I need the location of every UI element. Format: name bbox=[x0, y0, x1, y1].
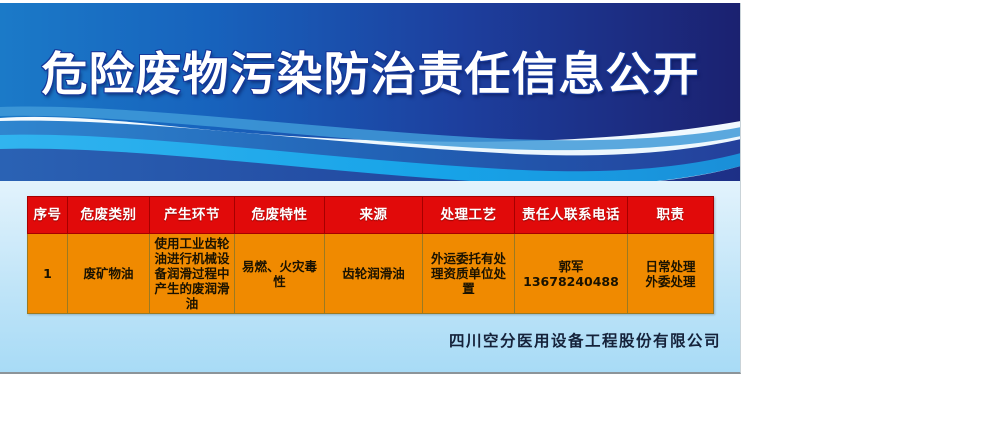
cell-generation-stage: 使用工业齿轮油进行机械设备润滑过程中产生的废润滑油 bbox=[150, 234, 235, 314]
cell-responsible-contact: 郭军 13678240488 bbox=[515, 234, 628, 314]
cell-index: 1 bbox=[28, 234, 68, 314]
banner-header bbox=[0, 3, 741, 181]
column-header-duty: 职责 bbox=[628, 197, 714, 234]
column-header-property: 危废特性 bbox=[235, 197, 325, 234]
column-header-contact: 责任人联系电话 bbox=[515, 197, 628, 234]
column-header-source: 来源 bbox=[325, 197, 423, 234]
table-header-row: 序号 危废类别 产生环节 危废特性 来源 处理工艺 责任人联系电话 职责 bbox=[28, 197, 714, 234]
cell-source: 齿轮润滑油 bbox=[325, 234, 423, 314]
table-row: 1 废矿物油 使用工业齿轮油进行机械设备润滑过程中产生的废润滑油 易燃、火灾毒性… bbox=[28, 234, 714, 314]
cell-treatment-process: 外运委托有处理资质单位处置 bbox=[423, 234, 515, 314]
hazardous-waste-table: 序号 危废类别 产生环节 危废特性 来源 处理工艺 责任人联系电话 职责 1 废… bbox=[27, 196, 714, 314]
cell-category: 废矿物油 bbox=[68, 234, 150, 314]
column-header-index: 序号 bbox=[28, 197, 68, 234]
cell-duty: 日常处理 外委处理 bbox=[628, 234, 714, 314]
column-header-process: 处理工艺 bbox=[423, 197, 515, 234]
poster-board: 危险废物污染防治责任信息公开 序号 危废类别 产生环节 危废特性 来源 处理工艺… bbox=[0, 3, 741, 374]
cell-hazard-property: 易燃、火灾毒性 bbox=[235, 234, 325, 314]
hazardous-waste-table-wrapper: 序号 危废类别 产生环节 危废特性 来源 处理工艺 责任人联系电话 职责 1 废… bbox=[27, 196, 714, 314]
company-name: 四川空分医用设备工程股份有限公司 bbox=[0, 331, 721, 351]
banner-wave-graphic bbox=[0, 3, 741, 181]
column-header-stage: 产生环节 bbox=[150, 197, 235, 234]
column-header-category: 危废类别 bbox=[68, 197, 150, 234]
